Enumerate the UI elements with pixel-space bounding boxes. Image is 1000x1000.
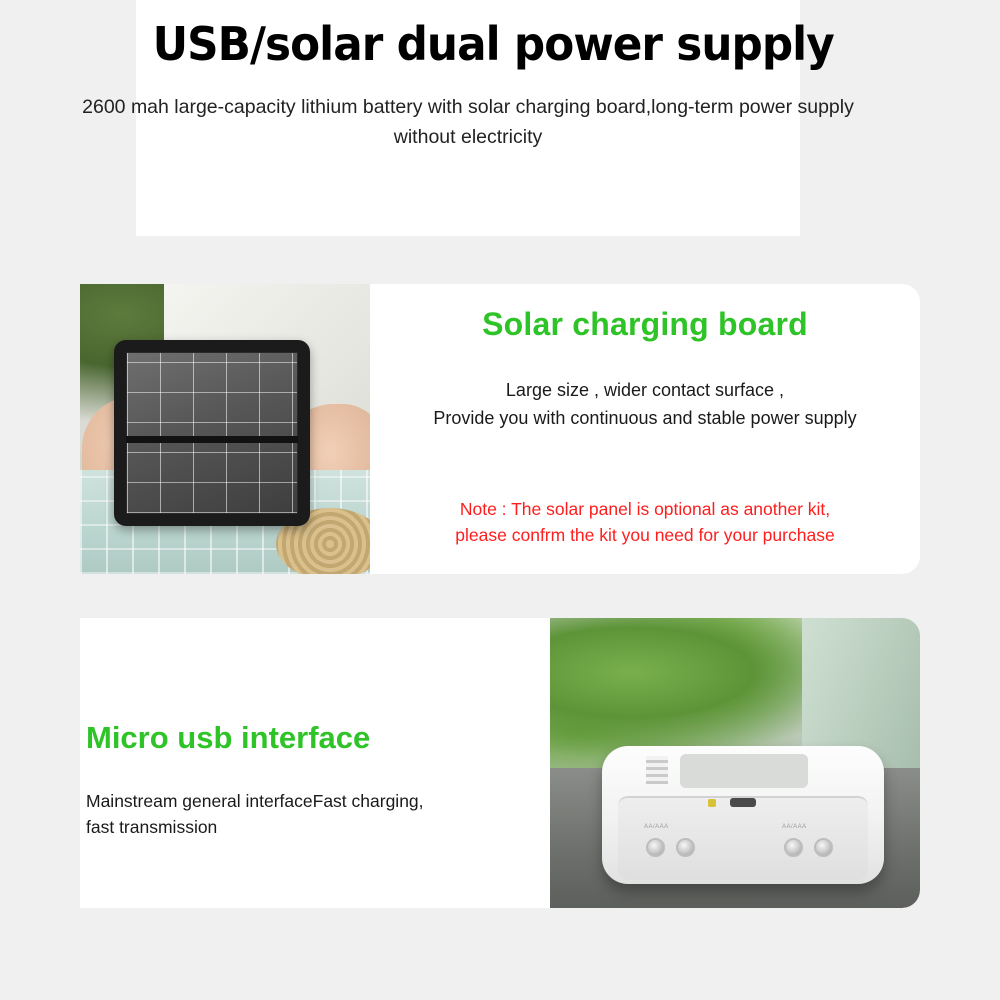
slot-label-left: AA/AAA [644,824,669,830]
device-vent [646,756,668,784]
charger-device-photo: AA/AAA AA/AAA [550,618,920,908]
page-subtitle: 2600 mah large-capacity lithium battery … [62,92,874,152]
solar-heading: Solar charging board [370,306,920,343]
header-card: USB/solar dual power supply 2600 mah lar… [136,0,800,236]
solar-note-line-2: please confrm the kit you need for your … [370,522,920,548]
solar-panel-crossbar [126,436,298,443]
status-led-icon [708,799,716,807]
solar-text-block: Solar charging board Large size , wider … [370,284,920,574]
solar-body: Large size , wider contact surface , Pro… [370,376,920,432]
usb-body-line-1: Mainstream general interfaceFast chargin… [86,788,506,814]
battery-slot [784,838,803,857]
solar-body-line-1: Large size , wider contact surface , [370,376,920,404]
slot-label-right: AA/AAA [782,824,807,830]
solar-body-line-2: Provide you with continuous and stable p… [370,404,920,432]
solar-note-line-1: Note : The solar panel is optional as an… [370,496,920,522]
solar-note: Note : The solar panel is optional as an… [370,496,920,548]
solar-panel-object [114,340,310,526]
page-title: USB/solar dual power supply [153,18,784,70]
device-screen [680,754,808,788]
usb-heading: Micro usb interface [86,720,546,756]
usb-text-block: Micro usb interface Mainstream general i… [80,618,550,908]
battery-slot [646,838,665,857]
solar-cells-grid [126,352,298,514]
usb-body-line-2: fast transmission [86,814,506,840]
battery-slot [814,838,833,857]
battery-slot [676,838,695,857]
solar-panel-photo [80,284,370,574]
micro-usb-section: Micro usb interface Mainstream general i… [80,618,920,908]
usb-body: Mainstream general interfaceFast chargin… [86,788,506,840]
solar-charging-section: Solar charging board Large size , wider … [80,284,920,574]
charger-device: AA/AAA AA/AAA [602,746,884,884]
micro-usb-port-icon [730,798,756,807]
